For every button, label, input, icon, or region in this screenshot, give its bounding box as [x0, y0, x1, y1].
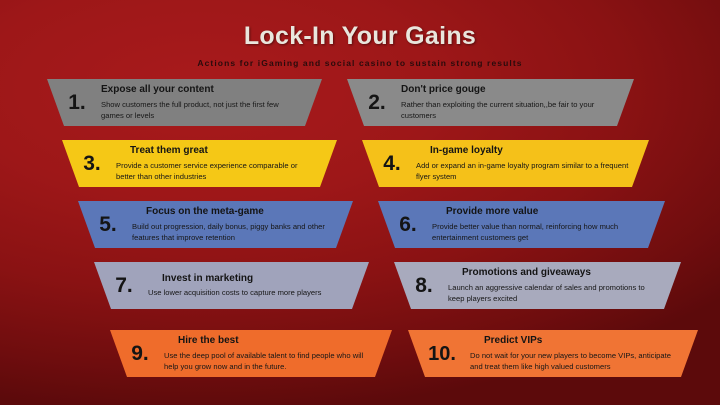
banner-item-10[interactable]: 10. Predict VIPs Do not wait for your ne…: [408, 330, 698, 377]
banner-item-7[interactable]: 7. Invest in marketing Use lower acquisi…: [94, 262, 369, 309]
item-text: Invest in marketing Use lower acquisitio…: [144, 273, 369, 299]
banner-item-3[interactable]: 3. Treat them great Provide a customer s…: [62, 140, 337, 187]
item-text: Hire the best Use the deep pool of avail…: [160, 335, 392, 372]
slide-canvas: Lock-In Your Gains Actions for iGaming a…: [0, 0, 720, 405]
banner-item-5[interactable]: 5. Focus on the meta-game Build out prog…: [78, 201, 353, 248]
item-heading: Provide more value: [432, 206, 645, 218]
item-body: Launch an aggressive calendar of sales a…: [448, 282, 661, 304]
item-body: Use the deep pool of available talent to…: [164, 350, 372, 372]
page-subtitle: Actions for iGaming and social casino to…: [0, 58, 720, 68]
item-number: 10.: [418, 344, 466, 364]
item-heading: Don't price gouge: [401, 84, 614, 96]
item-text: Expose all your content Show customers t…: [97, 84, 322, 121]
item-body: Provide better value than normal, reinfo…: [432, 221, 645, 243]
banner-item-4[interactable]: 4. In-game loyalty Add or expand an in-g…: [362, 140, 649, 187]
banner-item-6[interactable]: 6. Provide more value Provide better val…: [378, 201, 665, 248]
banner-item-1[interactable]: 1. Expose all your content Show customer…: [47, 79, 322, 126]
item-heading: Predict VIPs: [470, 335, 678, 347]
item-number: 2.: [357, 92, 397, 113]
item-heading: Invest in marketing: [148, 273, 349, 285]
banner-row-1: 1. Expose all your content Show customer…: [0, 79, 720, 126]
item-number: 7.: [104, 275, 144, 296]
item-body: Provide a customer service experience co…: [116, 160, 317, 182]
item-heading: Treat them great: [116, 145, 317, 157]
page-title: Lock-In Your Gains: [0, 22, 720, 51]
item-text: In-game loyalty Add or expand an in-game…: [412, 145, 649, 182]
banner-row-3: 5. Focus on the meta-game Build out prog…: [0, 201, 720, 248]
item-number: 5.: [88, 214, 128, 235]
item-number: 1.: [57, 92, 97, 113]
item-heading: Promotions and giveaways: [448, 267, 661, 279]
banner-item-9[interactable]: 9. Hire the best Use the deep pool of av…: [110, 330, 392, 377]
item-text: Treat them great Provide a customer serv…: [112, 145, 337, 182]
banner-item-8[interactable]: 8. Promotions and giveaways Launch an ag…: [394, 262, 681, 309]
item-body: Do not wait for your new players to beco…: [470, 350, 678, 372]
item-heading: Focus on the meta-game: [132, 206, 333, 218]
item-text: Focus on the meta-game Build out progres…: [128, 206, 353, 243]
item-heading: In-game loyalty: [416, 145, 629, 157]
item-number: 3.: [72, 153, 112, 174]
item-heading: Expose all your content: [101, 84, 302, 96]
item-body: Add or expand an in-game loyalty program…: [416, 160, 629, 182]
item-number: 9.: [120, 343, 160, 364]
item-text: Promotions and giveaways Launch an aggre…: [444, 267, 681, 304]
item-text: Don't price gouge Rather than exploiting…: [397, 84, 634, 121]
item-body: Show customers the full product, not jus…: [101, 99, 302, 121]
item-number: 4.: [372, 153, 412, 174]
item-number: 8.: [404, 275, 444, 296]
slide-header: Lock-In Your Gains Actions for iGaming a…: [0, 22, 720, 68]
item-body: Use lower acquisition costs to capture m…: [148, 287, 349, 298]
banner-row-2: 3. Treat them great Provide a customer s…: [0, 140, 720, 187]
item-body: Rather than exploiting the current situa…: [401, 99, 614, 121]
banner-item-2[interactable]: 2. Don't price gouge Rather than exploit…: [347, 79, 634, 126]
banner-row-4: 7. Invest in marketing Use lower acquisi…: [0, 262, 720, 309]
banner-row-5: 9. Hire the best Use the deep pool of av…: [0, 330, 720, 377]
item-text: Provide more value Provide better value …: [428, 206, 665, 243]
item-heading: Hire the best: [164, 335, 372, 347]
item-number: 6.: [388, 214, 428, 235]
item-body: Build out progression, daily bonus, pigg…: [132, 221, 333, 243]
item-text: Predict VIPs Do not wait for your new pl…: [466, 335, 698, 372]
